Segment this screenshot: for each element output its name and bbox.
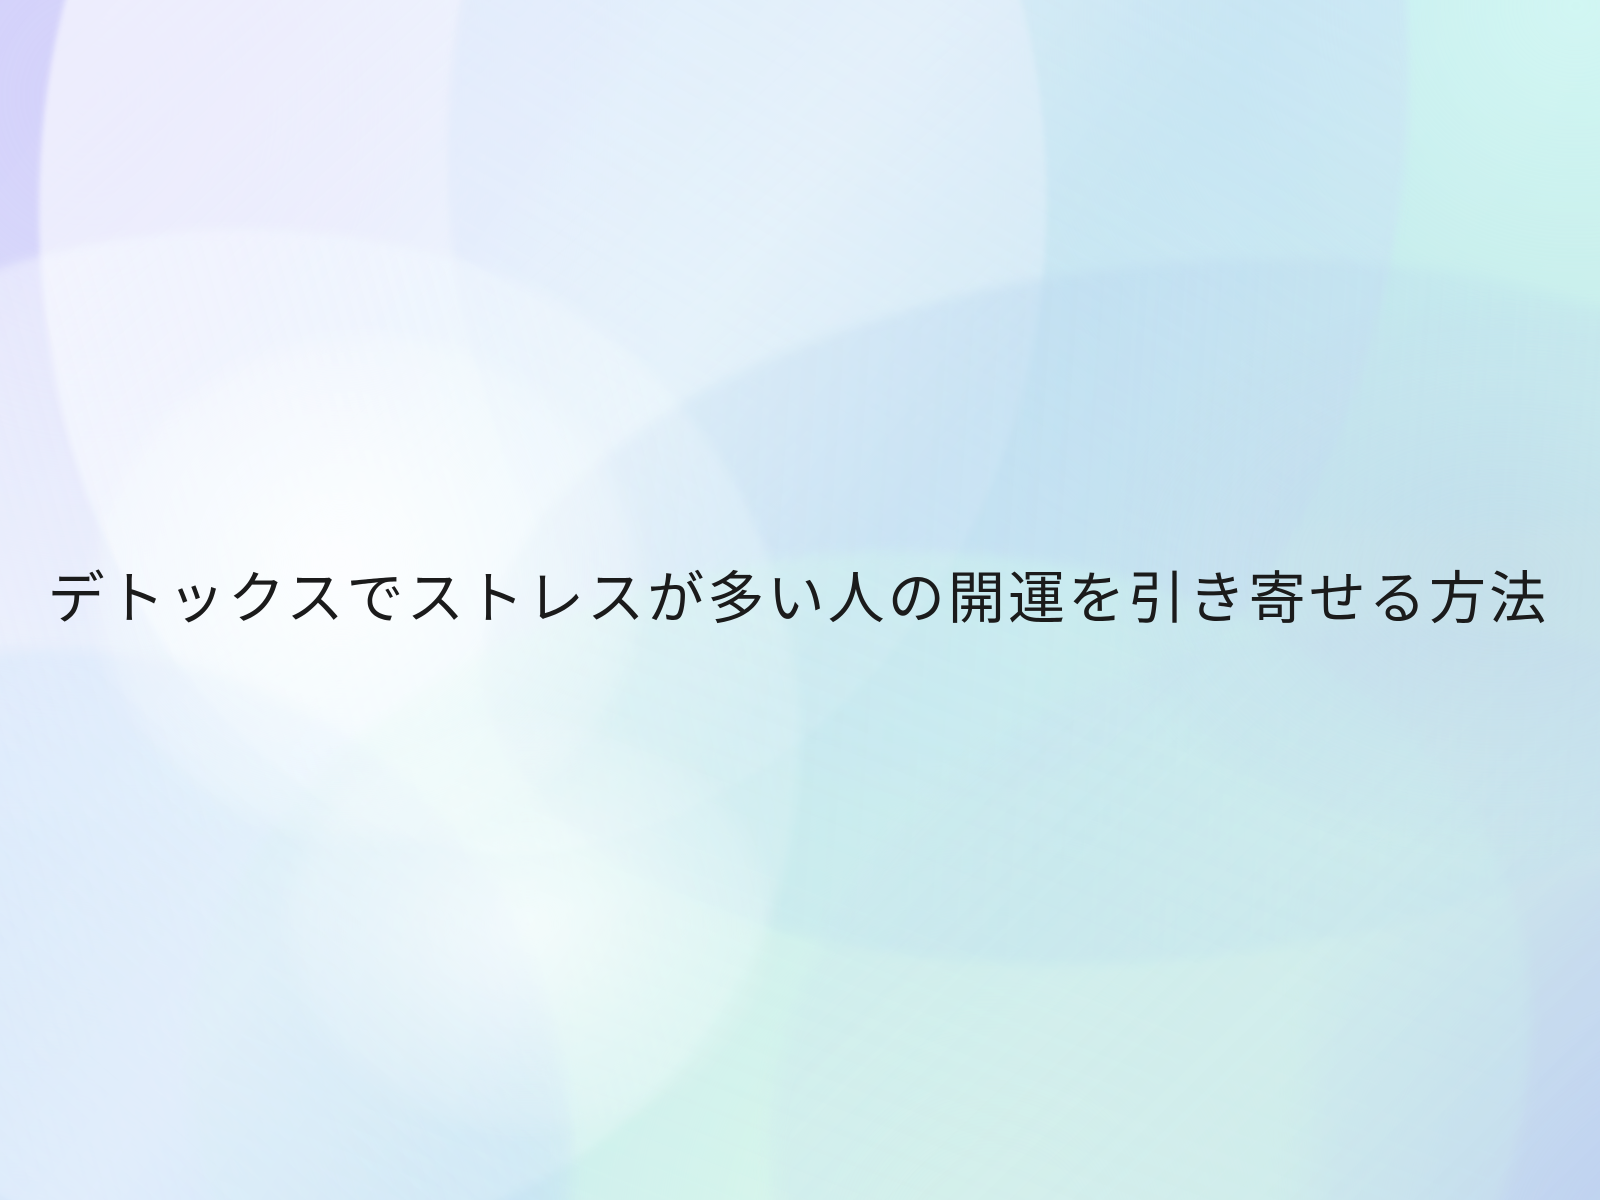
title-slide: デトックスでストレスが多い人の開運を引き寄せる方法 (0, 0, 1600, 1200)
headline-container: デトックスでストレスが多い人の開運を引き寄せる方法 (0, 0, 1600, 1200)
slide-title: デトックスでストレスが多い人の開運を引き寄せる方法 (48, 564, 1553, 635)
